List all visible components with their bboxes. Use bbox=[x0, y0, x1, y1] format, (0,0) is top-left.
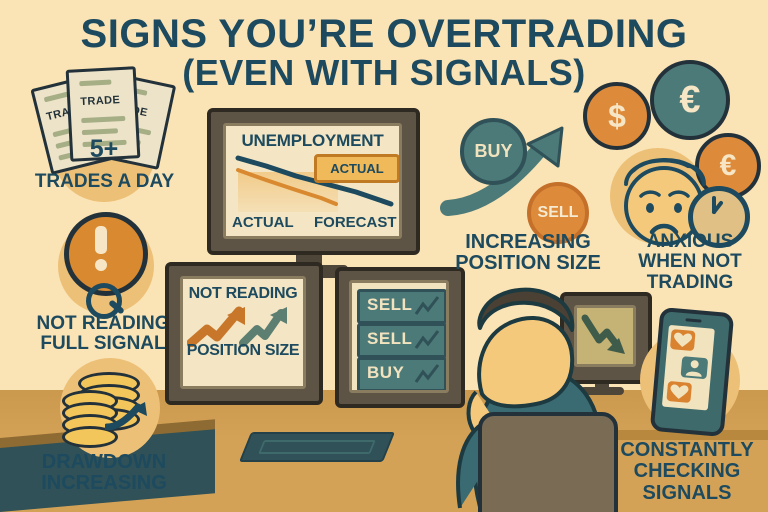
increasing-position-size-label: INCREASING POSITION SIZE bbox=[444, 232, 612, 275]
ccs-line-1: CONSTANTLY bbox=[620, 439, 753, 461]
trader-head bbox=[479, 318, 572, 406]
doc-center-text: TRADE bbox=[80, 94, 120, 108]
keyboard-keys bbox=[258, 440, 376, 454]
exclamation-dot bbox=[95, 259, 107, 271]
drawdown-line-2: INCREASING bbox=[41, 472, 167, 494]
ips-line-1: INCREASING bbox=[465, 231, 591, 253]
position-size-monitor[interactable]: NOT READING POSITION SIZE bbox=[165, 262, 323, 405]
anxious-line-3: TRADING bbox=[647, 272, 734, 293]
keyboard[interactable] bbox=[239, 432, 395, 462]
notification-heart-bubble-2 bbox=[666, 381, 692, 403]
phone-screen bbox=[662, 325, 715, 411]
signal-label-1: SELL bbox=[367, 295, 412, 315]
person-icon bbox=[681, 356, 709, 379]
ccs-line-2: CHECKING bbox=[634, 460, 741, 482]
office-chair bbox=[478, 412, 618, 512]
actual-pill-button[interactable]: ACTUAL bbox=[314, 154, 400, 183]
smartphone-icon[interactable] bbox=[650, 307, 735, 437]
not-reading-text: NOT READING bbox=[183, 285, 303, 303]
nrfs-line-1: NOT READING bbox=[37, 313, 170, 334]
signal-label-2: SELL bbox=[367, 329, 412, 349]
title-line-1: SIGNS YOU’RE OVERTRADING bbox=[0, 14, 768, 55]
drawdown-line-1: DRAWDOWN bbox=[42, 451, 166, 473]
ccs-line-3: SIGNALS bbox=[643, 482, 732, 504]
phone-speaker bbox=[685, 318, 701, 322]
anxious-line-1: ANXIOUS bbox=[647, 231, 734, 252]
infographic-canvas: SIGNS YOU’RE OVERTRADING (EVEN WITH SIGN… bbox=[0, 0, 768, 512]
euro-coin-teal: € bbox=[650, 60, 730, 140]
top-monitor-screen: UNEMPLOYMENT ACTUAL ACTUAL FORECAST bbox=[223, 123, 402, 239]
legend-actual: ACTUAL bbox=[232, 214, 294, 231]
clock-hands bbox=[693, 191, 735, 233]
constantly-checking-signals-label: CONSTANTLY CHECKING SIGNALS bbox=[606, 440, 768, 504]
trades-a-day-label: TRADES A DAY bbox=[12, 172, 197, 192]
buy-badge[interactable]: BUY bbox=[460, 118, 527, 185]
anxious-line-2: WHEN NOT bbox=[638, 251, 741, 272]
position-size-text: POSITION SIZE bbox=[183, 343, 303, 359]
heart-icon-1 bbox=[670, 329, 696, 351]
exclamation-bar bbox=[95, 226, 107, 254]
nrfs-line-2: FULL SIGNAL bbox=[40, 333, 165, 354]
unemployment-chart-monitor[interactable]: UNEMPLOYMENT ACTUAL ACTUAL FORECAST bbox=[207, 108, 420, 255]
anxious-when-not-trading-label: ANXIOUS WHEN NOT TRADING bbox=[614, 232, 766, 293]
position-size-text-value: POSITION SIZE bbox=[187, 342, 300, 359]
heart-icon-2 bbox=[666, 381, 692, 403]
trades-badge: 5+ bbox=[66, 136, 142, 163]
position-size-screen: NOT READING POSITION SIZE bbox=[180, 276, 306, 389]
legend-forecast: FORECAST bbox=[314, 214, 397, 231]
position-size-arrows bbox=[187, 303, 299, 347]
signal-label-3: BUY bbox=[367, 363, 404, 383]
drawdown-up-arrow-icon bbox=[105, 400, 149, 430]
notification-heart-bubble-1 bbox=[670, 329, 696, 351]
notification-person-bubble bbox=[681, 356, 709, 379]
drawdown-increasing-label: DRAWDOWN INCREASING bbox=[6, 452, 202, 495]
